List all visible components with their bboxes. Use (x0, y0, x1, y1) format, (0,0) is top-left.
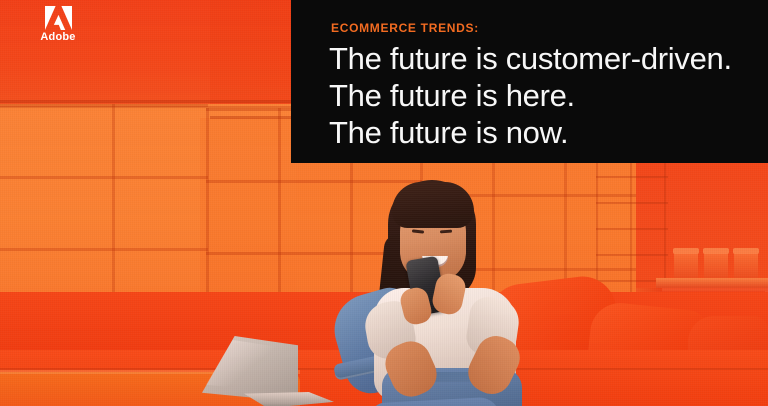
person-figure (330, 176, 562, 406)
laptop-lid-highlight (206, 340, 280, 392)
headline-line-3: The future is now. (329, 114, 759, 151)
headline-block: The future is customer-driven. The futur… (329, 40, 759, 151)
adobe-ecommerce-banner: Adobe ECOMMERCE TRENDS: The future is cu… (0, 0, 768, 406)
adobe-a-logo-icon (45, 6, 72, 30)
headline-line-2: The future is here. (329, 77, 759, 114)
headline-panel: ECOMMERCE TRENDS: The future is customer… (291, 0, 768, 163)
eyebrow-label: ECOMMERCE TRENDS: (331, 21, 479, 35)
shelf-jar (674, 252, 698, 280)
adobe-logo: Adobe (26, 6, 90, 43)
laptop (196, 336, 328, 406)
laptop-base (244, 392, 334, 406)
headline-line-1: The future is customer-driven. (329, 40, 759, 77)
adobe-wordmark: Adobe (26, 31, 90, 43)
shelf-jar (734, 252, 758, 280)
shelf-jar (704, 252, 728, 280)
hair-front (392, 182, 474, 228)
